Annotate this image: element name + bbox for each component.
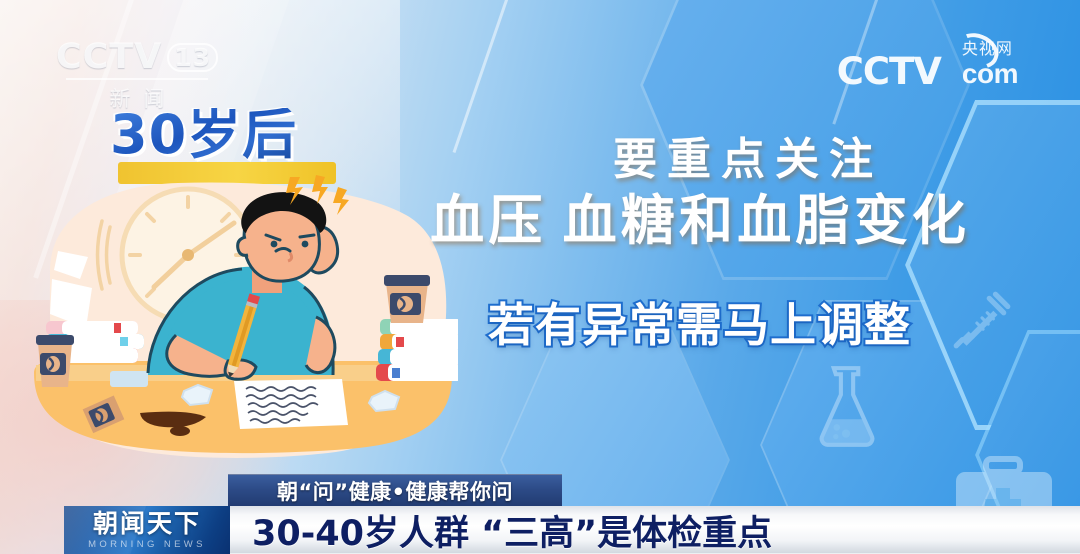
syringe-icon bbox=[948, 288, 1014, 354]
headline-line-2: 血 压 血 糖 和 血 脂 变 化 bbox=[428, 180, 968, 250]
headline-char: 糖 bbox=[616, 180, 680, 250]
headline-char: 化 bbox=[907, 180, 971, 250]
cctv-com-watermark-icon: CCTV 央视网 com bbox=[837, 42, 1018, 88]
flask-icon bbox=[805, 362, 887, 454]
headline-char: 脂 bbox=[790, 180, 854, 250]
headline-char: 变 bbox=[849, 180, 913, 250]
lower-third-banner: 朝闻天下 MORNING NEWS 30-40岁人群 “三高”是体检重点 bbox=[64, 506, 1080, 554]
kicker-text: 30岁后 bbox=[110, 108, 297, 162]
lower-third-headline-text: 30-40岁人群 “三高”是体检重点 bbox=[252, 506, 772, 554]
cctv13-number: 13 bbox=[167, 43, 218, 72]
program-logo-en: MORNING NEWS bbox=[88, 539, 206, 550]
headline-char: 血 bbox=[425, 180, 489, 250]
cctv13-brand: CCTV bbox=[56, 40, 162, 75]
graphic-headline: 要 重 点 关 注 血 压 血 糖 和 血 脂 变 化 bbox=[428, 126, 968, 250]
graphic-kicker: 30岁后 bbox=[110, 108, 297, 162]
topic-bar-label: 朝“问”健康•健康帮你问 bbox=[277, 476, 513, 506]
lower-third-headline: 30-40岁人群 “三高”是体检重点 bbox=[230, 506, 1080, 554]
topic-bar: 朝“问”健康•健康帮你问 bbox=[228, 474, 562, 506]
program-logo: 朝闻天下 MORNING NEWS bbox=[64, 506, 230, 554]
stressed-man-at-desk-illustration bbox=[28, 175, 458, 470]
headline-char: 血 bbox=[732, 180, 796, 250]
cctvcom-brand: CCTV bbox=[837, 55, 941, 88]
cctv13-divider bbox=[66, 78, 208, 80]
graphic-subheadline: 若有异常需马上调整 bbox=[488, 302, 911, 348]
headline-char: 血 bbox=[557, 180, 621, 250]
headline-char: 和 bbox=[674, 180, 738, 250]
program-logo-cn: 朝闻天下 bbox=[93, 511, 201, 536]
broadcast-screenshot: CCTV 13 新闻 CCTV 央视网 com 30岁后 bbox=[0, 0, 1080, 554]
headline-char: 压 bbox=[483, 180, 547, 250]
